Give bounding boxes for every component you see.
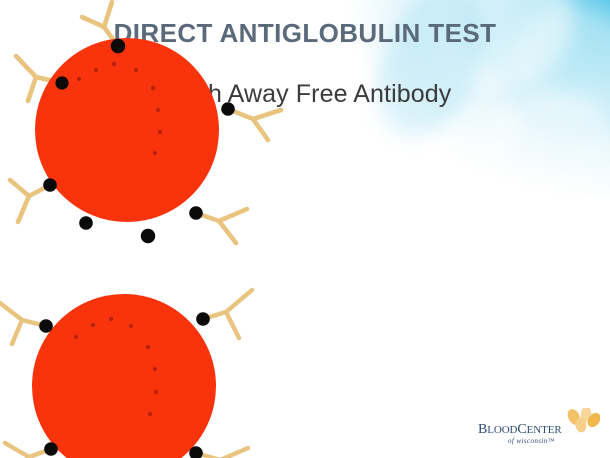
- antibody-icon-lower-left: [5, 443, 51, 458]
- interior-dot: [74, 335, 78, 339]
- antigen-dot-right: [221, 102, 235, 116]
- red-blood-cell-body: [32, 294, 216, 458]
- interior-dot: [151, 86, 156, 91]
- interior-dot: [77, 77, 81, 81]
- interior-dot: [153, 151, 157, 155]
- brand-logo: BLOODCENTER of wisconsin™: [478, 409, 600, 451]
- antigen-dot-bottom-bare: [141, 229, 155, 243]
- interior-dot: [112, 62, 117, 67]
- background-blob-3: [383, 39, 541, 193]
- antigen-dot-left: [39, 319, 53, 333]
- antigen-dot-lower-left: [43, 178, 57, 192]
- antigen-dot-bottom-left-bare: [79, 216, 93, 230]
- interior-dot: [109, 317, 113, 321]
- interior-dot: [148, 412, 152, 416]
- interior-dot: [129, 324, 133, 328]
- interior-dot: [156, 108, 160, 112]
- red-blood-cell-body: [35, 38, 219, 222]
- antigen-dot-lower-left: [44, 442, 58, 456]
- brand-name-bottom: of wisconsin™: [508, 437, 555, 445]
- slide-canvas: DIRECT ANTIGLOBULIN TEST Wash Away Free …: [0, 0, 610, 458]
- antigen-dot-lower-right: [189, 206, 203, 220]
- interior-dot: [153, 367, 157, 371]
- interior-dot: [94, 68, 98, 72]
- antibody-icon-lower-right: [196, 209, 247, 243]
- red-blood-cell-after-wash-svg: [0, 262, 290, 458]
- diagram-cell-before-wash: [0, 0, 290, 262]
- antigen-dot-top: [111, 39, 125, 53]
- antibody-icon-right: [203, 290, 252, 338]
- interior-dot: [146, 345, 150, 349]
- interior-dot: [134, 68, 138, 72]
- antibody-icon-left: [0, 303, 46, 344]
- interior-dot: [91, 323, 95, 327]
- antigen-dot-right: [196, 312, 210, 326]
- interior-dot: [158, 130, 162, 134]
- flower-mark-icon: [564, 408, 600, 436]
- red-blood-cell-before-wash-svg: [0, 0, 290, 262]
- antibody-icon-right: [228, 109, 281, 140]
- antibody-icon-lower-right: [196, 448, 248, 458]
- interior-dot: [154, 390, 158, 394]
- brand-name-top: BLOODCENTER: [478, 422, 562, 438]
- antigen-dot-upper-left: [55, 76, 68, 89]
- diagram-cell-after-wash: [0, 262, 290, 458]
